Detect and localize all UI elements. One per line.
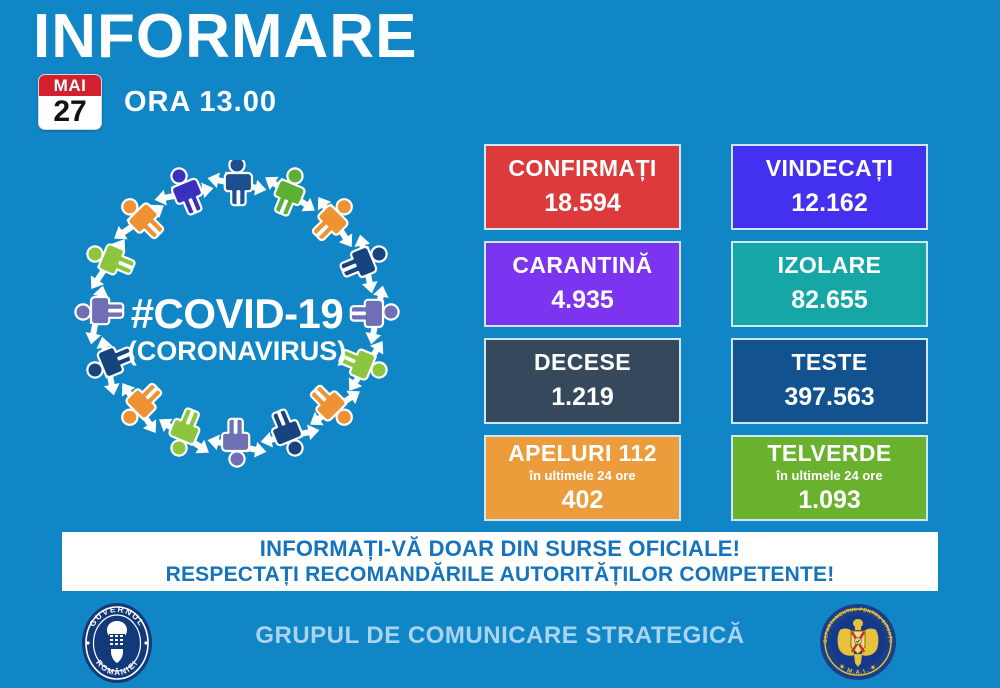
stat-value: 12.162 — [791, 189, 867, 218]
stat-label: TESTE — [791, 350, 867, 375]
stat-value: 82.655 — [791, 286, 867, 315]
stat-label: CONFIRMAȚI — [508, 156, 656, 181]
dsu-mai-emblem-icon: DEPARTAMENTUL PENTRU SITUAȚII ★ M.A.I. ★ — [818, 600, 898, 684]
stat-label: APELURI 112 — [508, 441, 657, 466]
stat-value: 18.594 — [544, 189, 620, 218]
stat-value: 402 — [562, 486, 604, 515]
calendar-day: 27 — [39, 96, 101, 129]
stat-sublabel: în ultimele 24 ore — [776, 468, 882, 484]
banner-line-2: RESPECTAȚI RECOMANDĂRILE AUTORITĂȚILOR C… — [166, 563, 835, 587]
stat-box-telverde: TELVERDE în ultimele 24 ore 1.093 — [731, 435, 928, 521]
stat-box-decese: DECESE 1.219 — [484, 338, 681, 424]
stat-label: TELVERDE — [767, 441, 891, 466]
calendar-month: MAI — [39, 75, 101, 96]
stat-label: VINDECAȚI — [766, 156, 894, 181]
stat-box-teste: TESTE 397.563 — [731, 338, 928, 424]
social-distancing-circle-icon: #COVID-19 (CORONAVIRUS) — [22, 160, 452, 520]
official-sources-banner: INFORMAȚI-VĂ DOAR DIN SURSE OFICIALE! RE… — [62, 532, 938, 591]
stat-box-izolare: IZOLARE 82.655 — [731, 241, 928, 327]
stat-value: 397.563 — [784, 383, 874, 412]
banner-line-1: INFORMAȚI-VĂ DOAR DIN SURSE OFICIALE! — [260, 536, 740, 562]
stat-value: 1.219 — [551, 383, 614, 412]
hour-label: ORA 13.00 — [124, 86, 277, 119]
stat-box-confirmati: CONFIRMAȚI 18.594 — [484, 144, 681, 230]
page-title: INFORMARE — [33, 4, 417, 69]
stat-label: CARANTINĂ — [512, 253, 652, 278]
stat-box-vindecati: VINDECAȚI 12.162 — [731, 144, 928, 230]
stat-label: IZOLARE — [778, 253, 882, 278]
stat-value: 1.093 — [798, 486, 861, 515]
calendar-icon: MAI 27 — [38, 74, 102, 130]
stat-value: 4.935 — [551, 286, 614, 315]
stat-sublabel: în ultimele 24 ore — [529, 468, 635, 484]
stat-box-carantina: CARANTINĂ 4.935 — [484, 241, 681, 327]
date-row: MAI 27 ORA 13.00 — [38, 74, 277, 130]
stat-box-apeluri-112: APELURI 112 în ultimele 24 ore 402 — [484, 435, 681, 521]
stat-label: DECESE — [534, 350, 631, 375]
